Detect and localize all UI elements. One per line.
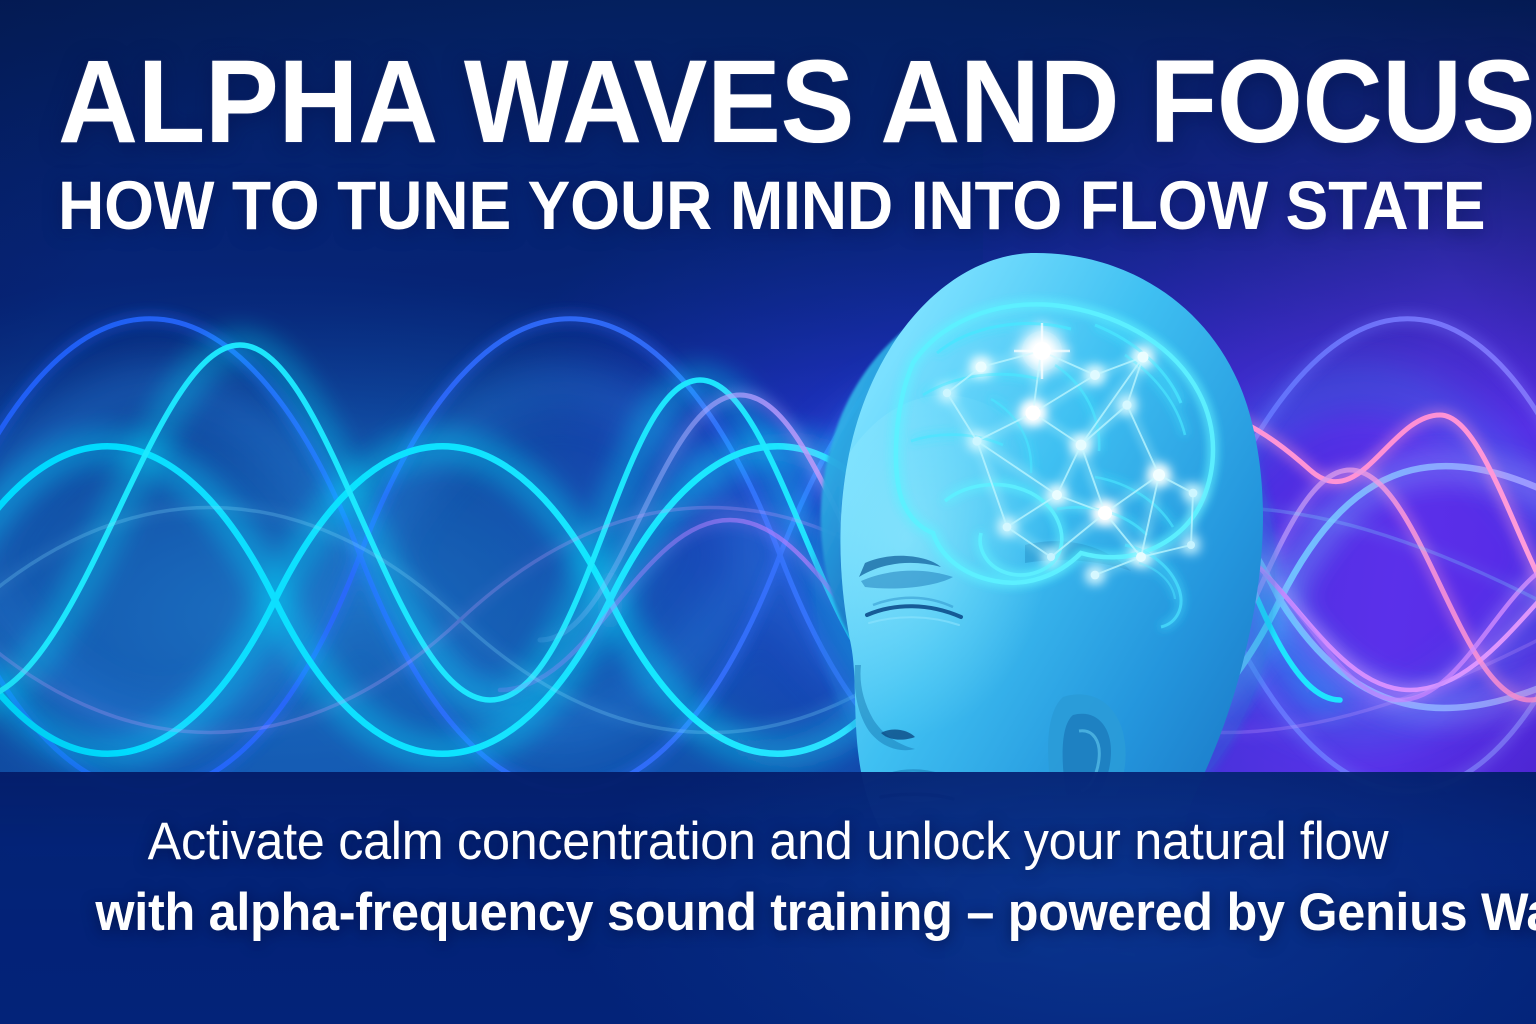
caption-line-2: with alpha-frequency sound training – po… xyxy=(95,883,1440,944)
page-title: ALPHA WAVES AND FOCUS xyxy=(58,48,1393,157)
poster-canvas: ALPHA WAVES AND FOCUS HOW TO TUNE YOUR M… xyxy=(0,0,1536,1024)
caption-line-1: Activate calm concentration and unlock y… xyxy=(95,812,1440,873)
caption-block: Activate calm concentration and unlock y… xyxy=(0,812,1536,944)
page-subtitle: HOW TO TUNE YOUR MIND INTO FLOW STATE xyxy=(58,171,1379,240)
title-block: ALPHA WAVES AND FOCUS HOW TO TUNE YOUR M… xyxy=(58,48,1478,240)
